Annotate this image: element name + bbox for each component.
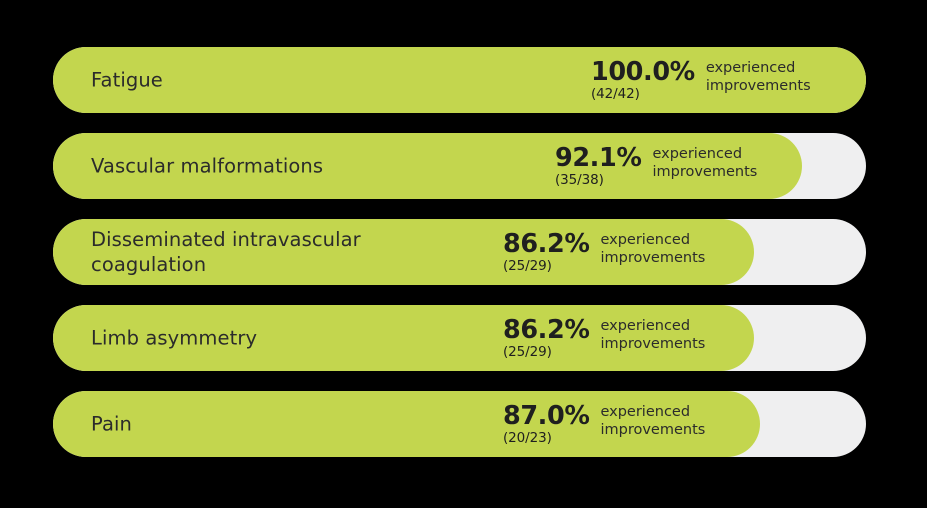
percent-value: 86.2%	[503, 317, 589, 343]
ratio-value: (35/38)	[555, 173, 604, 188]
chart-rows: Fatigue 100.0% (42/42) experienced impro…	[53, 47, 866, 457]
category-label: Fatigue	[91, 68, 163, 93]
experienced-improvements-label: experienced improvements	[600, 317, 705, 353]
chart-row: Fatigue 100.0% (42/42) experienced impro…	[53, 47, 866, 113]
chart-row: Limb asymmetry 86.2% (25/29) experienced…	[53, 305, 866, 371]
percent-value: 100.0%	[591, 59, 695, 85]
ratio-value: (42/42)	[591, 87, 640, 102]
row-content: Pain 87.0% (20/23) experienced improveme…	[53, 391, 866, 457]
row-stats: 92.1% (35/38) experienced improvements	[555, 144, 757, 188]
chart-row: Pain 87.0% (20/23) experienced improveme…	[53, 391, 866, 457]
percent-block: 86.2% (25/29)	[503, 316, 589, 360]
experienced-improvements-label: experienced improvements	[600, 403, 705, 439]
row-stats: 86.2% (25/29) experienced improvements	[503, 316, 705, 360]
category-label: Pain	[91, 412, 132, 437]
experienced-improvements-label: experienced improvements	[600, 231, 705, 267]
row-content: Vascular malformations 92.1% (35/38) exp…	[53, 133, 866, 199]
progress-bar-chart: Fatigue 100.0% (42/42) experienced impro…	[0, 0, 927, 508]
percent-block: 86.2% (25/29)	[503, 230, 589, 274]
ratio-value: (25/29)	[503, 259, 552, 274]
percent-block: 87.0% (20/23)	[503, 402, 589, 446]
row-content: Fatigue 100.0% (42/42) experienced impro…	[53, 47, 866, 113]
category-label: Disseminated intravascular coagulation	[91, 227, 361, 277]
chart-row: Disseminated intravascular coagulation 8…	[53, 219, 866, 285]
ratio-value: (20/23)	[503, 431, 552, 446]
row-stats: 100.0% (42/42) experienced improvements	[591, 58, 811, 102]
chart-row: Vascular malformations 92.1% (35/38) exp…	[53, 133, 866, 199]
percent-value: 87.0%	[503, 403, 589, 429]
row-content: Limb asymmetry 86.2% (25/29) experienced…	[53, 305, 866, 371]
category-label: Vascular malformations	[91, 154, 323, 179]
row-content: Disseminated intravascular coagulation 8…	[53, 219, 866, 285]
category-label: Limb asymmetry	[91, 326, 257, 351]
percent-value: 92.1%	[555, 145, 641, 171]
row-stats: 86.2% (25/29) experienced improvements	[503, 230, 705, 274]
ratio-value: (25/29)	[503, 345, 552, 360]
percent-block: 100.0% (42/42)	[591, 58, 695, 102]
experienced-improvements-label: experienced improvements	[652, 145, 757, 181]
percent-value: 86.2%	[503, 231, 589, 257]
row-stats: 87.0% (20/23) experienced improvements	[503, 402, 705, 446]
experienced-improvements-label: experienced improvements	[706, 59, 811, 95]
percent-block: 92.1% (35/38)	[555, 144, 641, 188]
